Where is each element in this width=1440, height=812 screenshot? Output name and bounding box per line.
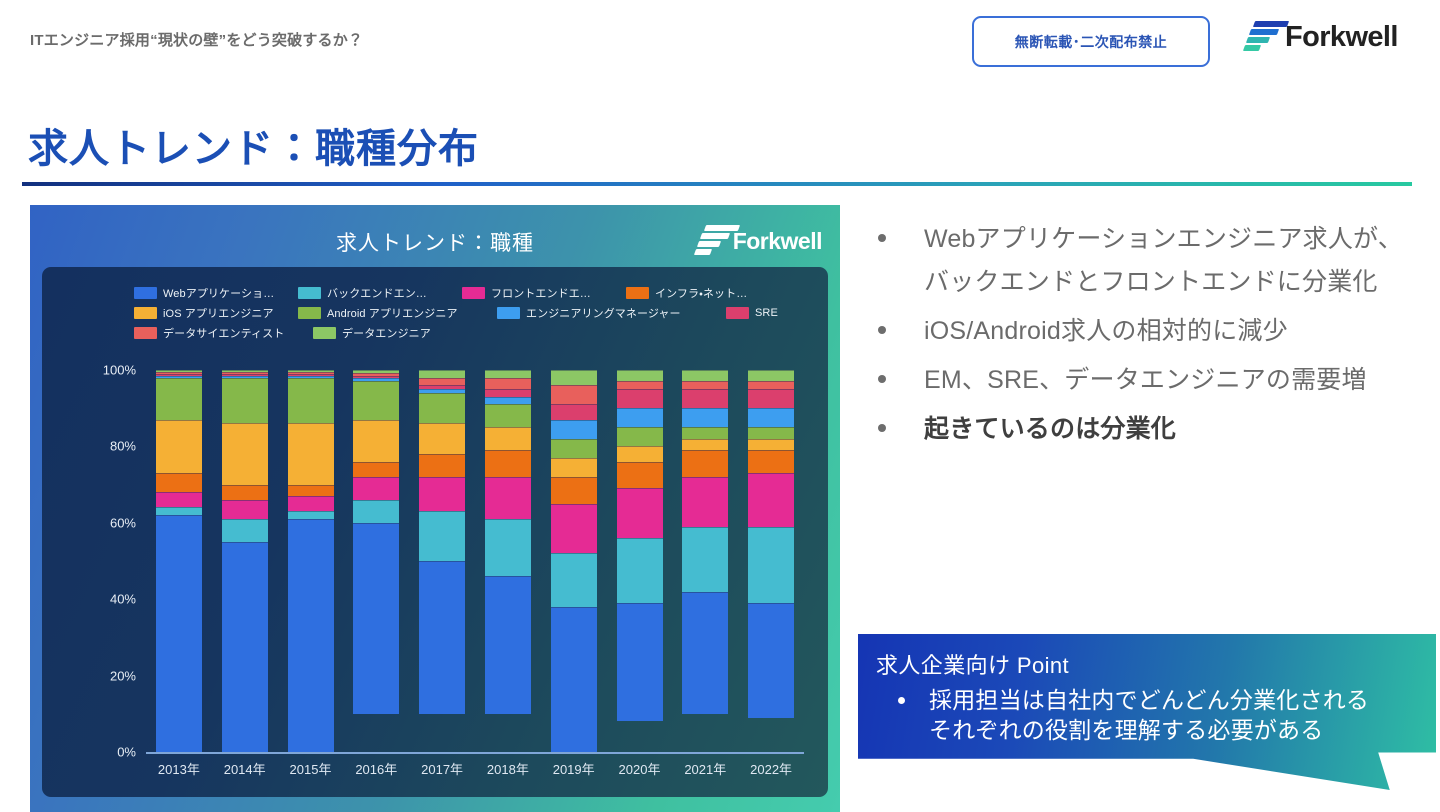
bar-segment [682, 592, 728, 714]
x-axis-tick: 2016年 [343, 759, 409, 778]
insight-bullet-text: iOS/Android求人の相対的に減少 [924, 310, 1288, 353]
bar-segment [485, 450, 531, 477]
bar-segment [419, 370, 465, 378]
legend-row: データサイエンティストデータエンジニア [134, 325, 814, 341]
bar-segment [419, 561, 465, 714]
forkwell-brand-name: Forkwell [1285, 23, 1398, 52]
point-callout-text: 採用担当は自社内でどんどん分業化されるそれぞれの役割を理解する必要がある [929, 686, 1369, 746]
bar-segment [617, 427, 663, 446]
bar-segment [682, 450, 728, 477]
bar-segment [748, 370, 794, 381]
title-divider [22, 182, 1412, 186]
y-axis-tick: 80% [110, 439, 136, 454]
bar-segment [748, 427, 794, 438]
bar-segment [682, 381, 728, 389]
point-callout-item: 採用担当は自社内でどんどん分業化されるそれぞれの役割を理解する必要がある [876, 686, 1369, 746]
bar-segment [485, 389, 531, 397]
bar-segment [353, 523, 399, 714]
bar-segment [617, 603, 663, 721]
bullet-dot-icon [878, 424, 886, 432]
bar-segment [748, 473, 794, 526]
x-axis-tick: 2015年 [278, 759, 344, 778]
bar-column[interactable] [419, 370, 465, 752]
chart-forkwell-logo: Forkwell [691, 225, 822, 257]
bar-column[interactable] [353, 370, 399, 752]
bullet-dot-icon [898, 697, 905, 704]
x-axis-tick: 2022年 [738, 759, 804, 778]
bar-segment [617, 538, 663, 603]
bar-segment [551, 404, 597, 419]
bar-segment [485, 477, 531, 519]
y-axis-tick: 40% [110, 592, 136, 607]
bar-segment [156, 378, 202, 420]
bar-segment [682, 408, 728, 427]
bar-segment [485, 370, 531, 378]
bar-segment [748, 389, 794, 408]
bar-segment [288, 378, 334, 424]
bullet-dot-icon [878, 375, 886, 383]
bar-segment [748, 450, 794, 473]
bar-segment [551, 553, 597, 606]
bar-segment [485, 427, 531, 450]
bar-segment [156, 492, 202, 507]
bar-segment [748, 603, 794, 718]
bar-segment [617, 462, 663, 489]
bar-segment [156, 507, 202, 515]
x-axis-tick: 2018年 [475, 759, 541, 778]
header-subtitle: ITエンジニア採用“現状の壁”をどう突破するか？ [30, 29, 363, 50]
legend-label: iOS アプリエンジニア [163, 305, 274, 321]
insight-bullet-text: EM、SRE、データエンジニアの需要増 [924, 359, 1367, 402]
legend-item[interactable]: インフラ・ネット… [626, 285, 776, 301]
bar-segment [419, 423, 465, 454]
bar-segment [485, 404, 531, 427]
bar-segment [682, 427, 728, 438]
bar-column[interactable] [485, 370, 531, 752]
legend-label: Webアプリケーショ… [163, 285, 274, 301]
point-callout-title: 求人企業向け Point [876, 648, 1069, 680]
legend-item[interactable]: Webアプリケーショ… [134, 285, 284, 301]
x-axis-tick: 2017年 [409, 759, 475, 778]
legend-item[interactable]: データエンジニア [313, 325, 463, 341]
legend-swatch [726, 307, 749, 319]
bar-segment [222, 542, 268, 752]
bar-segment [288, 485, 334, 496]
bar-segment [419, 511, 465, 561]
bar-segment [617, 389, 663, 408]
bar-segment [222, 423, 268, 484]
bar-segment [485, 576, 531, 714]
bar-segment [682, 439, 728, 450]
legend-swatch [298, 287, 321, 299]
legend-label: データエンジニア [342, 325, 431, 341]
chart-legend: Webアプリケーショ…バックエンドエン…フロントエンドエ…インフラ・ネット…iO… [134, 285, 814, 345]
page-title: 求人トレンド：職種分布 [28, 116, 479, 174]
legend-label: インフラ・ネット… [655, 285, 747, 301]
insight-bullet: iOS/Android求人の相対的に減少 [866, 310, 1426, 353]
legend-label: バックエンドエン… [327, 285, 427, 301]
bar-segment [353, 381, 399, 419]
bar-segment [156, 420, 202, 473]
legend-swatch [134, 327, 157, 339]
legend-item[interactable]: SRE [726, 307, 786, 319]
legend-swatch [134, 307, 157, 319]
notice-badge-label: 無断転載･二次配布禁止 [1015, 32, 1168, 52]
notice-badge: 無断転載･二次配布禁止 [972, 16, 1210, 67]
legend-swatch [626, 287, 649, 299]
legend-swatch [134, 287, 157, 299]
legend-label: エンジニアリングマネージャー [526, 305, 681, 321]
point-callout: 求人企業向け Point 採用担当は自社内でどんどん分業化されるそれぞれの役割を… [858, 634, 1436, 790]
bar-column[interactable] [288, 370, 334, 752]
legend-item[interactable]: データサイエンティスト [134, 325, 299, 341]
bar-segment [222, 500, 268, 519]
bar-column[interactable] [551, 370, 597, 752]
bar-segment [485, 519, 531, 576]
bar-segment [551, 439, 597, 458]
legend-label: SRE [755, 307, 778, 319]
legend-row: Webアプリケーショ…バックエンドエン…フロントエンドエ…インフラ・ネット… [134, 285, 814, 301]
x-axis-line [146, 752, 804, 754]
y-axis-tick: 60% [110, 515, 136, 530]
bar-segment [748, 381, 794, 389]
legend-row: iOS アプリエンジニアAndroid アプリエンジニアエンジニアリングマネージ… [134, 305, 814, 321]
legend-swatch [298, 307, 321, 319]
chart-card: 求人トレンド：職種 Forkwell Webアプリケーショ…バックエンドエン…フ… [30, 205, 840, 812]
bar-segment [551, 477, 597, 504]
bar-segment [288, 496, 334, 511]
bar-segment [617, 488, 663, 538]
bar-segment [222, 519, 268, 542]
bar-segment [419, 393, 465, 424]
bar-segment [288, 519, 334, 752]
bullet-dot-icon [878, 326, 886, 334]
bar-segment [682, 527, 728, 592]
bullet-dot-icon [878, 234, 886, 242]
bar-segment [353, 462, 399, 477]
bar-column[interactable] [222, 370, 268, 752]
bar-segment [288, 423, 334, 484]
bar-segment [156, 473, 202, 492]
bar-segment [419, 477, 465, 511]
insight-bullet-text: 起きているのは分業化 [924, 408, 1176, 451]
bar-segment [485, 378, 531, 389]
bar-segment [222, 378, 268, 424]
bar-segment [682, 389, 728, 408]
x-axis-tick: 2021年 [672, 759, 738, 778]
forkwell-logo-icon [1240, 21, 1276, 53]
y-axis-tick: 100% [103, 363, 136, 378]
bar-segment [748, 439, 794, 450]
bar-segment [353, 500, 399, 523]
x-axis-tick: 2019年 [541, 759, 607, 778]
bar-column[interactable] [748, 370, 794, 752]
forkwell-brand-name: Forkwell [733, 228, 822, 255]
insight-bullet: EM、SRE、データエンジニアの需要増 [866, 359, 1426, 402]
bar-segment [617, 381, 663, 389]
bar-segment [551, 420, 597, 439]
insight-bullet-text: Webアプリケーションエンジニア求人が、バックエンドとフロントエンドに分業化 [924, 218, 1426, 304]
bar-segment [617, 446, 663, 461]
insight-bullet: 起きているのは分業化 [866, 408, 1426, 451]
x-axis-tick: 2013年 [146, 759, 212, 778]
plot-area: 0%20%40%60%80%100% [146, 370, 804, 752]
legend-label: フロントエンドエ… [491, 285, 591, 301]
bar-segment [682, 477, 728, 527]
plot-panel: Webアプリケーショ…バックエンドエン…フロントエンドエ…インフラ・ネット…iO… [42, 267, 828, 797]
bar-segment [288, 511, 334, 519]
bar-column[interactable] [617, 370, 663, 752]
legend-item[interactable]: バックエンドエン… [298, 285, 448, 301]
bar-segment [485, 397, 531, 405]
bar-column[interactable] [156, 370, 202, 752]
bar-segment [617, 370, 663, 381]
legend-item[interactable]: iOS アプリエンジニア [134, 305, 284, 321]
y-axis-tick: 20% [110, 668, 136, 683]
bar-segment [353, 477, 399, 500]
bar-segment [748, 408, 794, 427]
legend-swatch [497, 307, 520, 319]
legend-swatch [313, 327, 336, 339]
legend-swatch [462, 287, 485, 299]
bar-segment [682, 370, 728, 381]
bar-segment [617, 408, 663, 427]
bar-segment [748, 527, 794, 603]
bar-segment [353, 420, 399, 462]
bar-segment [551, 607, 597, 752]
bar-segment [156, 515, 202, 752]
bar-segment [551, 458, 597, 477]
legend-item[interactable]: エンジニアリングマネージャー [497, 305, 712, 321]
bar-segment [551, 504, 597, 554]
legend-item[interactable]: Android アプリエンジニア [298, 305, 483, 321]
insight-bullet: Webアプリケーションエンジニア求人が、バックエンドとフロントエンドに分業化 [866, 218, 1426, 304]
forkwell-logo-icon [691, 225, 727, 257]
bar-segment [419, 378, 465, 386]
legend-item[interactable]: フロントエンドエ… [462, 285, 612, 301]
bar-segment [551, 370, 597, 385]
bar-column[interactable] [682, 370, 728, 752]
bar-segment [222, 485, 268, 500]
forkwell-logo: Forkwell [1240, 21, 1398, 53]
bar-segment [551, 385, 597, 404]
insight-bullet-list: Webアプリケーションエンジニア求人が、バックエンドとフロントエンドに分業化iO… [866, 218, 1426, 457]
bar-segment [419, 454, 465, 477]
x-axis-tick: 2020年 [607, 759, 673, 778]
legend-label: Android アプリエンジニア [327, 305, 458, 321]
legend-label: データサイエンティスト [163, 325, 284, 341]
x-axis-tick: 2014年 [212, 759, 278, 778]
page-header: ITエンジニア採用“現状の壁”をどう突破するか？ 無断転載･二次配布禁止 For… [0, 0, 1440, 84]
y-axis-tick: 0% [117, 745, 136, 760]
